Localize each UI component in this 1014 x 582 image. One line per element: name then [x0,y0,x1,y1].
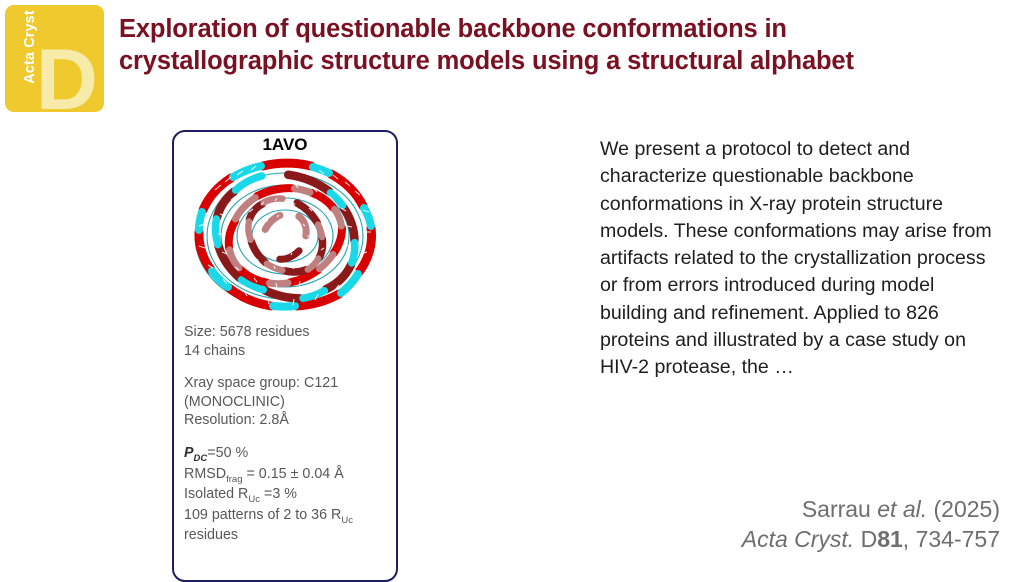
isolated-subscript: Uc [248,494,260,505]
citation-volume: 81 [877,526,903,552]
protein-ribbon-icon [174,155,396,317]
citation-etal: et al. [877,496,927,522]
pdb-id-label: 1AVO [174,135,396,155]
pdc-subscript: DC [194,453,208,464]
journal-logo: Acta Cryst D [5,5,104,112]
pdc-value: =50 % [207,445,248,461]
article-title: Exploration of questionable backbone con… [119,13,999,77]
pdc-symbol: P [184,445,194,461]
pdc-line: PDC=50 % [184,444,396,465]
citation-authors: Sarrau [802,496,877,522]
journal-series-letter: D [36,37,98,123]
structure-card: 1AVO [172,130,398,582]
abstract-text: We present a protocol to detect and char… [600,136,1000,382]
citation-volume-prefix: D [854,526,877,552]
crystal-system-line: (MONOCLINIC) [184,393,396,412]
citation-journal: Acta Cryst. [742,526,854,552]
metrics-block: PDC=50 % RMSDfrag = 0.15 ± 0.04 Å Isolat… [184,444,396,545]
rmsd-value: = 0.15 ± 0.04 Å [242,466,343,482]
patterns-suffix: residues [184,527,238,543]
patterns-line: 109 patterns of 2 to 36 RUcresidues [184,506,396,545]
article-title-line-2: crystallographic structure models using … [119,45,999,77]
citation-journal-line: Acta Cryst. D81, 734-757 [742,524,1000,554]
size-block: Size: 5678 residues 14 chains [184,323,396,360]
resolution-line: Resolution: 2.8Å [184,411,396,430]
size-line: Size: 5678 residues [184,323,396,342]
patterns-prefix: 109 patterns of 2 to 36 R [184,507,341,523]
rmsd-line: RMSDfrag = 0.15 ± 0.04 Å [184,465,396,486]
space-group-line: Xray space group: C121 [184,374,396,393]
crystal-block: Xray space group: C121 (MONOCLINIC) Reso… [184,374,396,430]
isolated-value: =3 % [260,486,297,502]
citation-year: (2025) [927,496,1000,522]
citation-pages: , 734-757 [903,526,1000,552]
citation-authors-line: Sarrau et al. (2025) [742,494,1000,524]
chains-line: 14 chains [184,342,396,361]
isolated-ruc-line: Isolated RUc =3 % [184,485,396,506]
isolated-prefix: Isolated R [184,486,248,502]
citation: Sarrau et al. (2025) Acta Cryst. D81, 73… [742,494,1000,554]
rmsd-subscript: frag [226,474,242,485]
structure-card-stats: Size: 5678 residues 14 chains Xray space… [174,317,396,545]
article-title-line-1: Exploration of questionable backbone con… [119,13,999,45]
patterns-subscript: Uc [341,515,353,526]
rmsd-symbol: RMSD [184,466,226,482]
